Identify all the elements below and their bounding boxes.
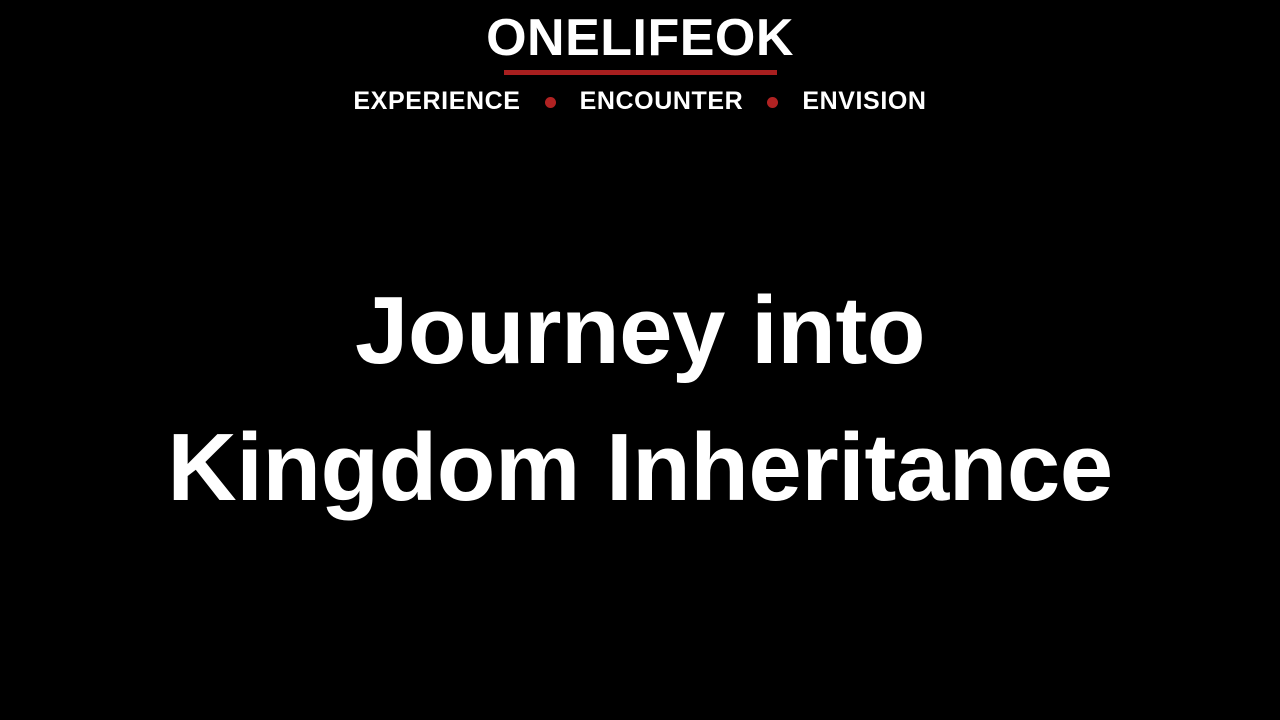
- brand-header: ONELIFEOK EXPERIENCE ENCOUNTER ENVISION: [0, 0, 1280, 114]
- title-line-2: Kingdom Inheritance: [0, 399, 1280, 536]
- slide-title: Journey into Kingdom Inheritance: [0, 262, 1280, 536]
- tagline-word-encounter: ENCOUNTER: [578, 89, 746, 114]
- title-line-1: Journey into: [0, 262, 1280, 399]
- dot-separator-icon: [767, 97, 778, 108]
- brand-accent-rule: [504, 70, 777, 75]
- tagline-word-experience: EXPERIENCE: [351, 89, 522, 114]
- tagline-word-envision: ENVISION: [800, 89, 928, 114]
- brand-wordmark: ONELIFEOK: [486, 0, 794, 64]
- presentation-slide: ONELIFEOK EXPERIENCE ENCOUNTER ENVISION …: [0, 0, 1280, 720]
- brand-tagline: EXPERIENCE ENCOUNTER ENVISION: [0, 89, 1280, 114]
- dot-separator-icon: [545, 97, 556, 108]
